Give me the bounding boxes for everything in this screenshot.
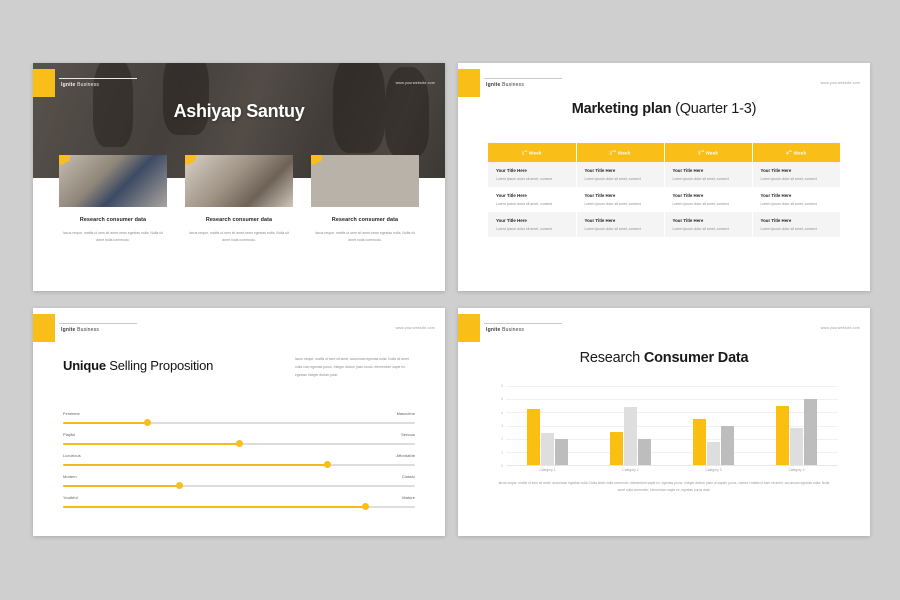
brand-header: Ignite Business www.yourwebsite.com	[33, 69, 445, 99]
brand-square-logo	[458, 314, 480, 342]
card-body: lacus neque, mattis ut sem sit amet,nean…	[59, 230, 167, 245]
slide2-title-bold: Marketing plan	[572, 101, 672, 117]
slide4-title-light: Research	[580, 350, 644, 366]
slide3-title-bold: Unique	[63, 358, 106, 373]
table-cell: Your Title HereLorem ipsum dolor sit ame…	[576, 212, 664, 237]
slider-knob[interactable]	[144, 419, 151, 426]
slide-marketing-plan[interactable]: Ignite Business www.yourwebsite.com Mark…	[458, 63, 870, 291]
brand-name-light: Business	[76, 82, 99, 88]
chart-plot-area	[506, 386, 838, 466]
slider-right-label: Masculine	[397, 411, 415, 416]
marketing-plan-table: 1st Week 2nd Week 3rd Week 4th Week Your…	[488, 143, 840, 237]
attribute-slider[interactable]: Modern Classic	[63, 474, 415, 495]
table-cell: Your Title HereLorem ipsum dolor sit ame…	[488, 187, 576, 212]
cell-subtitle: Lorem ipsum dolor sit amet, consect	[585, 227, 656, 231]
brand-header: Ignite Business www.yourwebsite.com	[458, 69, 870, 99]
slider-track[interactable]	[63, 485, 415, 487]
table-cell: Your Title HereLorem ipsum dolor sit ame…	[488, 162, 576, 187]
cell-subtitle: Lorem ipsum dolor sit amet, consect	[496, 202, 568, 206]
slider-left-label: Modern	[63, 474, 77, 479]
table-body: Your Title HereLorem ipsum dolor sit ame…	[488, 162, 840, 237]
cell-subtitle: Lorem ipsum dolor sit amet, consect	[761, 227, 833, 231]
table-column-header: 3rd Week	[664, 143, 752, 162]
card-image	[59, 155, 167, 207]
chart-bar-group	[755, 386, 838, 465]
table-header-row: 1st Week 2nd Week 3rd Week 4th Week	[488, 143, 840, 162]
chart-bar	[707, 442, 720, 465]
cell-title: Your Title Here	[673, 168, 744, 173]
col-label: Week	[792, 151, 806, 156]
cell-title: Your Title Here	[585, 168, 656, 173]
chart-y-axis: 0123456	[492, 386, 506, 466]
cell-subtitle: Lorem ipsum dolor sit amet, consect	[761, 177, 833, 181]
cell-title: Your Title Here	[673, 218, 744, 223]
table-cell: Your Title HereLorem ipsum dolor sit ame…	[664, 187, 752, 212]
card-image	[311, 155, 419, 207]
cell-title: Your Title Here	[496, 193, 568, 198]
slide4-title-bold: Consumer Data	[644, 350, 749, 366]
chart-bar	[624, 407, 637, 465]
cell-subtitle: Lorem ipsum dolor sit amet, consect	[496, 227, 568, 231]
bar-chart: 0123456 Category 1Category 2Category 3Ca…	[492, 386, 838, 466]
table-cell: Your Title HereLorem ipsum dolor sit ame…	[488, 212, 576, 237]
card-title: Research consumer data	[185, 217, 293, 223]
cell-subtitle: Lorem ipsum dolor sit amet, consect	[673, 227, 744, 231]
brand-website-url: www.yourwebsite.com	[396, 81, 435, 85]
table-column-header: 1st Week	[488, 143, 576, 162]
brand-square-logo	[33, 69, 55, 97]
brand-name: Ignite Business	[61, 82, 99, 88]
chart-y-tick-label: 4	[501, 411, 503, 415]
attribute-slider[interactable]: Luxurious Affordable	[63, 453, 415, 474]
brand-name-bold: Ignite	[61, 327, 76, 333]
chart-x-tick-label: Category 3	[672, 468, 755, 472]
attribute-slider-list: Feminine Masculine Playful Serious Luxur…	[63, 411, 415, 516]
slider-right-label: Mature	[402, 495, 415, 500]
card-body: lacus neque, mattis ut sem sit amet,nean…	[185, 230, 293, 245]
table-cell: Your Title HereLorem ipsum dolor sit ame…	[576, 162, 664, 187]
slider-right-label: Affordable	[396, 453, 415, 458]
slide-unique-selling-proposition[interactable]: Ignite Business www.yourwebsite.com Uniq…	[33, 308, 445, 536]
slider-fill	[63, 506, 366, 508]
chart-bar	[610, 432, 623, 465]
attribute-slider[interactable]: Feminine Masculine	[63, 411, 415, 432]
brand-divider-line	[484, 78, 562, 79]
cell-title: Your Title Here	[761, 218, 833, 223]
card-body: lacus neque, mattis ut sem sit amet,nean…	[311, 230, 419, 245]
table-row: Your Title HereLorem ipsum dolor sit ame…	[488, 162, 840, 187]
slide2-title-light: (Quarter 1-3)	[671, 101, 756, 117]
cell-subtitle: Lorem ipsum dolor sit amet, consect	[585, 202, 656, 206]
slider-fill	[63, 485, 179, 487]
chart-bar-group	[506, 386, 589, 465]
table-cell: Your Title HereLorem ipsum dolor sit ame…	[752, 212, 840, 237]
brand-website-url: www.yourwebsite.com	[821, 81, 860, 85]
brand-name-light: Business	[501, 82, 524, 88]
slider-fill	[63, 443, 239, 445]
slider-knob[interactable]	[362, 503, 369, 510]
brand-header: Ignite Business www.yourwebsite.com	[33, 314, 445, 344]
chart-bar-groups	[506, 386, 838, 465]
chart-y-tick-label: 0	[501, 464, 503, 468]
slider-left-label: Youthful	[63, 495, 78, 500]
table-header: 1st Week 2nd Week 3rd Week 4th Week	[488, 143, 840, 162]
brand-header: Ignite Business www.yourwebsite.com	[458, 314, 870, 344]
brand-website-url: www.yourwebsite.com	[396, 326, 435, 330]
chart-bar	[541, 433, 554, 465]
chart-x-tick-label: Category 4	[755, 468, 838, 472]
brand-website-url: www.yourwebsite.com	[821, 326, 860, 330]
slider-knob[interactable]	[176, 482, 183, 489]
chart-y-tick-label: 1	[501, 451, 503, 455]
feature-card[interactable]: Research consumer data lacus neque, matt…	[59, 155, 167, 245]
brand-name-bold: Ignite	[486, 82, 501, 88]
chart-bar	[693, 419, 706, 465]
cell-subtitle: Lorem ipsum dolor sit amet, consect	[673, 177, 744, 181]
chart-bar	[804, 399, 817, 465]
cell-title: Your Title Here	[585, 193, 656, 198]
chart-bar	[776, 406, 789, 465]
table-column-header: 4th Week	[752, 143, 840, 162]
chart-x-tick-label: Category 2	[589, 468, 672, 472]
brand-square-logo	[458, 69, 480, 97]
chart-bar-group	[589, 386, 672, 465]
table-cell: Your Title HereLorem ipsum dolor sit ame…	[664, 212, 752, 237]
chart-bar	[555, 439, 568, 465]
brand-divider-line	[59, 323, 137, 324]
brand-name-light: Business	[76, 327, 99, 333]
chart-x-tick-label: Category 1	[506, 468, 589, 472]
slider-track[interactable]	[63, 464, 415, 466]
chart-y-tick-label: 3	[501, 424, 503, 428]
slide2-title: Marketing plan (Quarter 1-3)	[458, 101, 870, 117]
cell-title: Your Title Here	[761, 193, 833, 198]
slide-title-hero[interactable]: Ashiyap Santuy Ignite Business www.yourw…	[33, 63, 445, 291]
attribute-slider[interactable]: Playful Serious	[63, 432, 415, 453]
chart-y-tick-label: 6	[501, 384, 503, 388]
slider-knob[interactable]	[236, 440, 243, 447]
slider-left-label: Feminine	[63, 411, 80, 416]
table-row: Your Title HereLorem ipsum dolor sit ame…	[488, 187, 840, 212]
chart-bar-group	[672, 386, 755, 465]
table-cell: Your Title HereLorem ipsum dolor sit ame…	[576, 187, 664, 212]
hexagon-badge-icon	[185, 155, 196, 165]
cell-subtitle: Lorem ipsum dolor sit amet, consect	[761, 202, 833, 206]
brand-square-logo	[33, 314, 55, 342]
brand-name-bold: Ignite	[61, 82, 76, 88]
cell-title: Your Title Here	[673, 193, 744, 198]
slide3-lead-paragraph: lacus neque, mattis ut sem sit amet, acc…	[295, 356, 415, 379]
chart-y-tick-label: 5	[501, 397, 503, 401]
chart-bar	[790, 428, 803, 465]
slider-fill	[63, 464, 327, 466]
cell-subtitle: Lorem ipsum dolor sit amet, consect	[673, 202, 744, 206]
slider-right-label: Classic	[402, 474, 415, 479]
hexagon-badge-icon	[311, 155, 322, 165]
chart-bar	[721, 426, 734, 466]
feature-card[interactable]: Research consumer data lacus neque, matt…	[185, 155, 293, 245]
brand-name: Ignite Business	[486, 82, 524, 88]
col-label: Week	[704, 151, 718, 156]
brand-name: Ignite Business	[486, 327, 524, 333]
cell-subtitle: Lorem ipsum dolor sit amet, consect	[496, 177, 568, 181]
brand-name-bold: Ignite	[486, 327, 501, 333]
brand-divider-line	[484, 323, 562, 324]
hexagon-badge-icon	[59, 155, 70, 165]
slide3-title: Unique Selling Proposition	[63, 358, 213, 373]
table-cell: Your Title HereLorem ipsum dolor sit ame…	[752, 187, 840, 212]
brand-divider-line	[59, 78, 137, 79]
presentation-thumbnail-board: Ashiyap Santuy Ignite Business www.yourw…	[0, 0, 900, 600]
table-row: Your Title HereLorem ipsum dolor sit ame…	[488, 212, 840, 237]
card-image	[185, 155, 293, 207]
col-label: Week	[616, 151, 630, 156]
cell-title: Your Title Here	[496, 168, 568, 173]
slider-knob[interactable]	[324, 461, 331, 468]
attribute-slider[interactable]: Youthful Mature	[63, 495, 415, 516]
chart-x-axis-labels: Category 1Category 2Category 3Category 4	[506, 468, 838, 472]
slider-left-label: Luxurious	[63, 453, 81, 458]
brand-name-light: Business	[501, 327, 524, 333]
slide4-footer-paragraph: lacus neque, mattis ut sem sit amet, acc…	[498, 480, 830, 495]
cell-subtitle: Lorem ipsum dolor sit amet, consect	[585, 177, 656, 181]
feature-card[interactable]: Research consumer data lacus neque, matt…	[311, 155, 419, 245]
chart-bar	[527, 409, 540, 465]
table-cell: Your Title HereLorem ipsum dolor sit ame…	[664, 162, 752, 187]
slider-track[interactable]	[63, 506, 415, 508]
slider-fill	[63, 422, 147, 424]
chart-bar	[638, 439, 651, 465]
cell-title: Your Title Here	[761, 168, 833, 173]
cell-title: Your Title Here	[585, 218, 656, 223]
cell-title: Your Title Here	[496, 218, 568, 223]
col-label: Week	[528, 151, 542, 156]
slide4-title: Research Consumer Data	[458, 350, 870, 366]
slider-track[interactable]	[63, 443, 415, 445]
table-column-header: 2nd Week	[576, 143, 664, 162]
card-title: Research consumer data	[59, 217, 167, 223]
slider-track[interactable]	[63, 422, 415, 424]
slider-right-label: Serious	[401, 432, 415, 437]
chart-y-tick-label: 2	[501, 437, 503, 441]
slider-left-label: Playful	[63, 432, 75, 437]
slide-research-consumer-data[interactable]: Ignite Business www.yourwebsite.com Rese…	[458, 308, 870, 536]
slide3-title-light: Selling Proposition	[106, 358, 213, 373]
table-cell: Your Title HereLorem ipsum dolor sit ame…	[752, 162, 840, 187]
card-title: Research consumer data	[311, 217, 419, 223]
brand-name: Ignite Business	[61, 327, 99, 333]
